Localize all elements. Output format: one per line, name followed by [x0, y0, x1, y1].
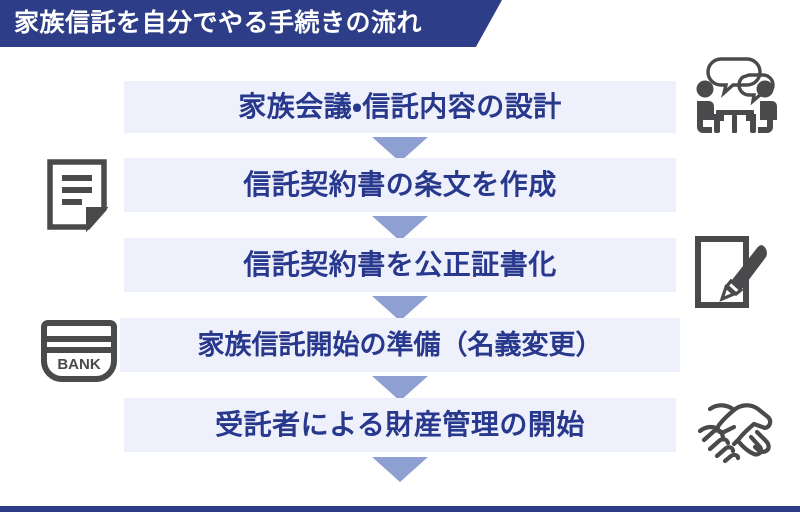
flow-step-4: 家族信託開始の準備（名義変更） — [120, 318, 680, 372]
bottom-accent-bar — [0, 506, 800, 512]
bank-icon: BANK — [36, 317, 122, 387]
flow-step-4-label: 家族信託開始の準備（名義変更） — [198, 332, 603, 359]
flow-step-3-label: 信託契約書を公正証書化 — [243, 251, 557, 279]
flow-step-2-label: 信託契約書の条文を作成 — [243, 171, 557, 199]
handshake-icon — [688, 397, 778, 471]
document-icon — [42, 157, 120, 235]
flow-step-5: 受託者による財産管理の開始 — [124, 398, 676, 452]
page-title: 家族信託を自分でやる手続きの流れ — [14, 11, 422, 36]
flow-arrow-5 — [372, 457, 428, 482]
flow-step-3: 信託契約書を公正証書化 — [124, 238, 676, 292]
flow-step-2: 信託契約書の条文を作成 — [124, 158, 676, 212]
flow-step-5-label: 受託者による財産管理の開始 — [215, 411, 585, 439]
meeting-icon — [683, 56, 787, 140]
header-banner: 家族信託を自分でやる手続きの流れ — [0, 0, 502, 47]
pen-document-icon — [690, 233, 780, 319]
flowchart-canvas: 家族信託を自分でやる手続きの流れ 家族会議・信託内容の設計 信託契約書の条文を作… — [0, 0, 800, 512]
bank-icon-label: BANK — [57, 356, 100, 373]
flow-diagram: 家族会議・信託内容の設計 信託契約書の条文を作成 信託契約書を公正証書化 家族信… — [0, 47, 800, 508]
flow-step-1-label: 家族会議・信託内容の設計 — [238, 93, 562, 121]
flow-step-1: 家族会議・信託内容の設計 — [124, 81, 676, 133]
